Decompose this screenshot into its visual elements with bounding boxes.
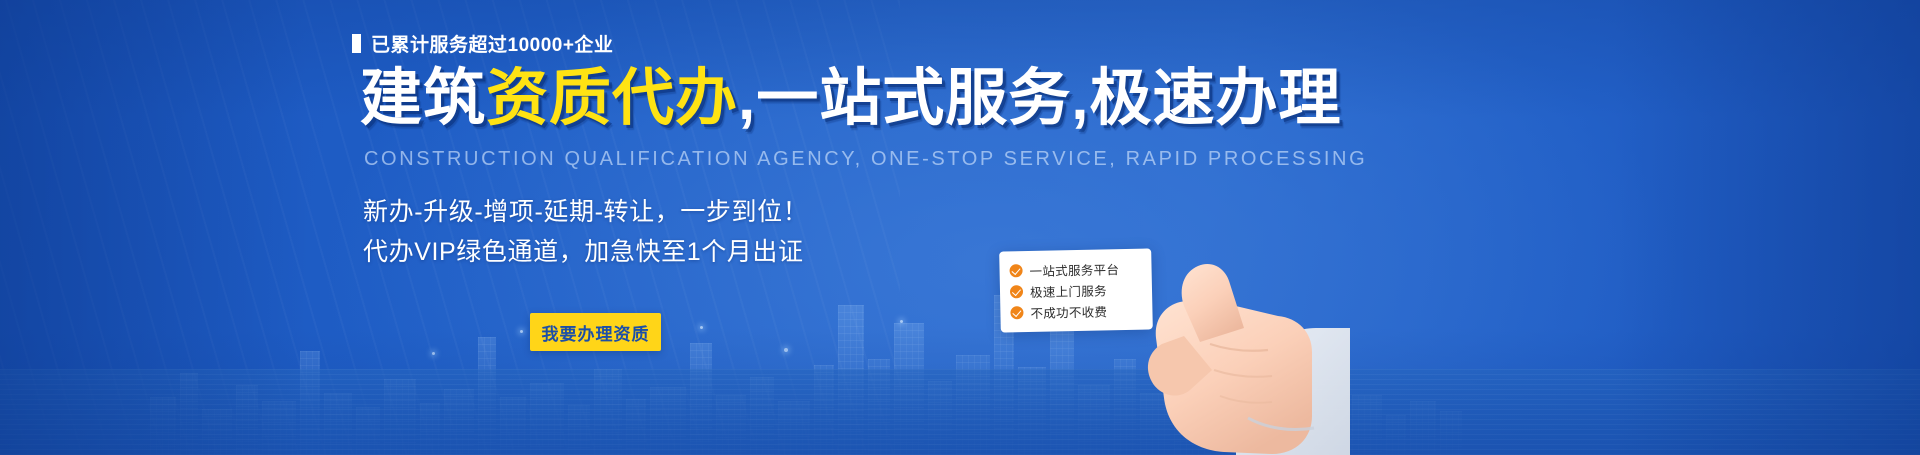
apply-qualification-button[interactable]: 我要办理资质 [530, 313, 661, 351]
hero-banner: 已累计服务超过10000+企业 建筑资质代办,一站式服务,极速办理 CONSTR… [0, 0, 1920, 455]
feature-line-1: 新办-升级-增项-延期-转让，一步到位！ [363, 192, 808, 232]
headline-part-2-highlight: 资质代办 [486, 64, 738, 133]
subtitle-english: CONSTRUCTION QUALIFICATION AGENCY, ONE-S… [364, 148, 1367, 171]
page-title: 建筑资质代办,一站式服务,极速办理 [360, 64, 1341, 133]
check-circle-icon [1010, 306, 1023, 319]
benefit-label: 一站式服务平台 [1029, 259, 1119, 280]
check-circle-icon [1009, 264, 1022, 277]
benefit-label: 极速上门服务 [1030, 280, 1107, 301]
benefits-card: 一站式服务平台 极速上门服务 不成功不收费 [999, 248, 1153, 332]
check-circle-icon [1010, 285, 1023, 298]
hand-holding-card-illustration [1140, 232, 1350, 455]
tagline: 已累计服务超过10000+企业 [352, 30, 613, 57]
headline-part-3: ,一站式服务,极速办理 [738, 64, 1341, 133]
banner-content: 已累计服务超过10000+企业 建筑资质代办,一站式服务,极速办理 CONSTR… [0, 0, 1920, 455]
benefit-label: 不成功不收费 [1030, 301, 1107, 322]
tagline-text: 已累计服务超过10000+企业 [371, 30, 613, 57]
square-marker-icon [352, 34, 361, 53]
headline-part-1: 建筑 [360, 64, 486, 133]
feature-list: 新办-升级-增项-延期-转让，一步到位！ 代办VIP绿色通道，加急快至1个月出证 [363, 192, 808, 272]
apply-qualification-button-label: 我要办理资质 [542, 320, 650, 345]
list-item: 极速上门服务 [1010, 279, 1144, 303]
feature-line-2: 代办VIP绿色通道，加急快至1个月出证 [363, 232, 808, 272]
list-item: 一站式服务平台 [1009, 258, 1143, 282]
list-item: 不成功不收费 [1010, 300, 1144, 324]
